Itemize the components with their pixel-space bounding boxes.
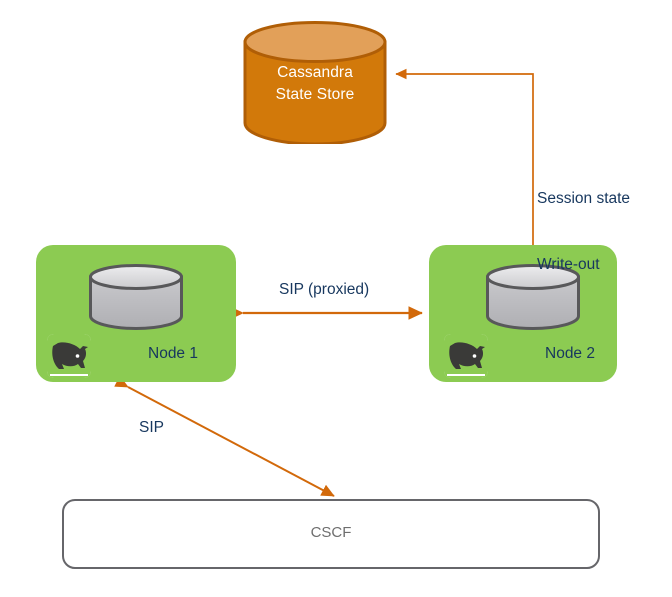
rhino-icon-underline (50, 374, 88, 376)
node-1-label: Node 1 (148, 345, 198, 363)
node-2-rhino-icon[interactable] (444, 334, 488, 378)
connector-sip (128, 387, 334, 496)
connector-label-sip-proxied: SIP (proxied) (279, 279, 369, 301)
connector-label-sip: SIP (139, 417, 164, 439)
session-label-line1: Session state (537, 188, 630, 210)
connector-session-state-write-out (396, 74, 533, 271)
diagram-canvas: Cassandra State Store Node 1 No (0, 0, 672, 597)
node-1-rhino-icon[interactable] (47, 334, 91, 378)
rhino-icon-underline (447, 374, 485, 376)
connector-label-session-state-write-out: Session state Write-out (537, 144, 630, 320)
cassandra-label-line2: State Store (243, 84, 387, 106)
node-2-label: Node 2 (545, 345, 595, 363)
cassandra-label-line1: Cassandra (243, 62, 387, 84)
session-label-line2: Write-out (537, 254, 630, 276)
cscf-label: CSCF (62, 524, 600, 541)
node-1-database-cylinder-icon (88, 264, 184, 330)
cassandra-state-store-label: Cassandra State Store (243, 62, 387, 106)
